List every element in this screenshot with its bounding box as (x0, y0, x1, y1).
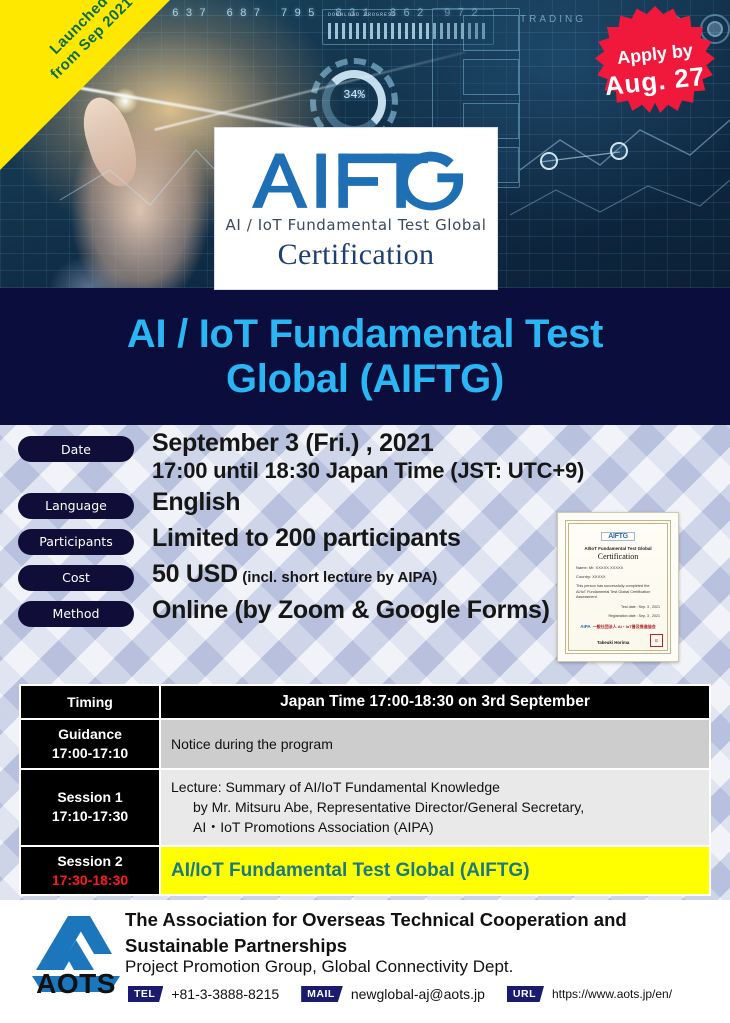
header-timing: Timing (20, 685, 160, 719)
body-line: AI/IoT Fundamental Test Global (AIFTG) (171, 860, 530, 881)
url-value[interactable]: https://www.aots.jp/en/ (552, 987, 672, 1001)
department-name: Project Promotion Group, Global Connecti… (125, 957, 513, 977)
row-timing-session1: Session 1 17:10-17:30 (20, 769, 160, 846)
info-label-cost: Cost (18, 565, 134, 591)
date-main: September 3 (Fri.) , 2021 (152, 430, 584, 458)
certificate-signer-name: Takeuki Horima (597, 640, 629, 645)
table-row: Session 2 17:30-18:30 AI/IoT Fundamental… (20, 846, 710, 896)
certificate-test-date: Test date : Sep. 3 , 2021 (576, 605, 660, 610)
row-timing-session2: Session 2 17:30-18:30 (20, 846, 160, 896)
certificate-title-2: Certification (576, 552, 660, 561)
network-node (540, 152, 558, 170)
info-label-participants: Participants (18, 529, 134, 555)
tel-value[interactable]: +81-3-3888-8215 (171, 986, 279, 1002)
certificate-body: This person has successfully completed t… (576, 584, 660, 601)
network-node (610, 142, 628, 160)
contact-row: TEL +81-3-3888-8215 MAIL newglobal-aj@ao… (128, 986, 686, 1002)
title-line-1: AI / IoT Fundamental Test (127, 312, 603, 356)
mail-tag: MAIL (301, 986, 343, 1002)
apply-by-badge: Apply by Aug. 27 (592, 6, 718, 130)
url-tag: URL (507, 986, 544, 1002)
certificate-title-1: AI/IoT Fundamental Test Global (576, 546, 660, 551)
row-body-session2: AI/IoT Fundamental Test Global (AIFTG) (160, 846, 710, 896)
body-line: Notice during the program (171, 736, 333, 752)
body-line: AI・IoT Promotions Association (AIPA) (171, 817, 699, 837)
footer: AOTS The Association for Overseas Techni… (0, 900, 730, 1023)
mail-value[interactable]: newglobal-aj@aots.jp (351, 986, 485, 1002)
certificate-name-line: Name: Mr. XXXXX XXXXX (576, 565, 660, 570)
title-band: AI / IoT Fundamental Test Global (AIFTG) (0, 288, 730, 425)
table-row: Session 1 17:10-17:30 Lecture: Summary o… (20, 769, 710, 846)
slot-time: 17:00-17:10 (23, 744, 157, 763)
row-body-guidance: Notice during the program (160, 719, 710, 769)
slot-label: Guidance (23, 725, 157, 744)
schedule-table: Timing Japan Time 17:00-18:30 on 3rd Sep… (19, 684, 711, 896)
info-value-language: English (152, 489, 240, 517)
row-body-session1: Lecture: Summary of AI/IoT Fundamental K… (160, 769, 710, 846)
title-line-2: Global (AIFTG) (226, 357, 504, 401)
info-label-language: Language (18, 493, 134, 519)
row-timing-guidance: Guidance 17:00-17:10 (20, 719, 160, 769)
aiftg-logo-card: AI / IoT Fundamental Test Global Certifi… (214, 127, 498, 290)
date-time: 17:00 until 18:30 Japan Time (JST: UTC+9… (152, 458, 584, 483)
certificate-aipa-jp: 一般社団法人 AI・IoT普及推進協会 (593, 624, 656, 630)
header-main: Japan Time 17:00-18:30 on 3rd September (160, 685, 710, 719)
slot-label: Session 1 (23, 788, 157, 807)
page-title: AI / IoT Fundamental Test Global (AIFTG) (127, 312, 603, 402)
body-line: Lecture: Summary of AI/IoT Fundamental K… (171, 779, 500, 795)
organization-name: The Association for Overseas Technical C… (125, 907, 723, 958)
info-label-method: Method (18, 601, 134, 627)
aiftg-subtitle: AI / IoT Fundamental Test Global (225, 216, 486, 234)
cost-amount: 50 USD (152, 560, 238, 588)
certificate-inner: AIFTG AI/IoT Fundamental Test Global Cer… (565, 520, 671, 654)
slot-time: 17:10-17:30 (23, 807, 157, 826)
certificate-logo: AIFTG (601, 532, 635, 541)
info-value-method: Online (by Zoom & Google Forms) (152, 597, 550, 625)
info-row-date: Date September 3 (Fri.) , 2021 17:00 unt… (0, 432, 730, 483)
tel-tag: TEL (128, 986, 163, 1002)
info-label-date: Date (18, 436, 134, 462)
certificate-aipa-logo: AIPA (580, 624, 590, 629)
certificate-country-line: Country: XXXXX (576, 574, 660, 579)
slot-label: Session 2 (23, 852, 157, 871)
table-row: Guidance 17:00-17:10 Notice during the p… (20, 719, 710, 769)
body-line: by Mr. Mitsuru Abe, Representative Direc… (171, 797, 699, 817)
info-value-date: September 3 (Fri.) , 2021 17:00 until 18… (152, 430, 584, 483)
info-value-participants: Limited to 200 participants (152, 525, 461, 553)
aiftg-wordmark-icon (246, 147, 466, 213)
certificate-issue-date: Registration date : Sep. 3 , 2021 (576, 614, 660, 619)
cost-note: (incl. short lecture by AIPA) (242, 569, 437, 586)
aiftg-certification-text: Certification (278, 238, 435, 272)
aots-wordmark: AOTS (20, 968, 132, 1000)
certificate-thumbnail: AIFTG AI/IoT Fundamental Test Global Cer… (557, 512, 679, 662)
info-value-cost: 50 USD (incl. short lecture by AIPA) (152, 561, 437, 589)
poster-root: 637 687 795 831 862 972 DOWNLOAD PROGRES… (0, 0, 730, 1023)
certificate-footer: AIPA 一般社団法人 AI・IoT普及推進協会 (576, 624, 660, 630)
certificate-stamp-icon: 印 (650, 634, 663, 647)
slot-time: 17:30-18:30 (23, 871, 157, 890)
table-header-row: Timing Japan Time 17:00-18:30 on 3rd Sep… (20, 685, 710, 719)
